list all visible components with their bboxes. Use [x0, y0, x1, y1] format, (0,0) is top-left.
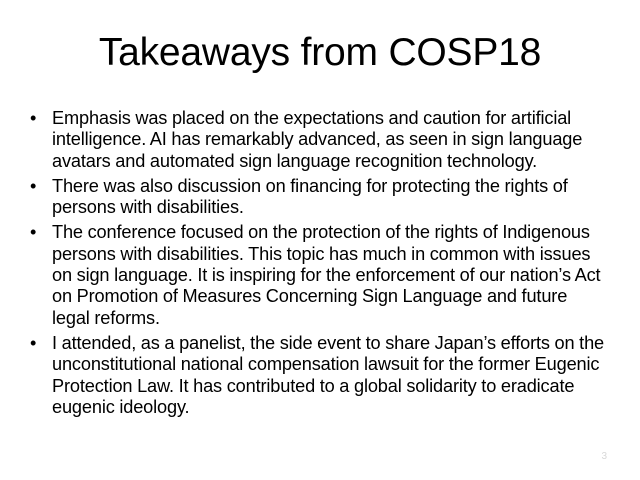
bullet-point-icon: • [30, 108, 44, 129]
presentation-slide: Takeaways from COSP18 • Emphasis was pla… [0, 0, 640, 480]
bullet-item-text: The conference focused on the protection… [52, 222, 608, 328]
bullet-item: • I attended, as a panelist, the side ev… [24, 333, 608, 418]
bullet-item-text: Emphasis was placed on the expectations … [52, 108, 608, 172]
bullet-item-text: I attended, as a panelist, the side even… [52, 333, 608, 418]
slide-body: • Emphasis was placed on the expectation… [24, 108, 608, 418]
bullet-point-icon: • [30, 222, 44, 243]
bullet-item-text: There was also discussion on financing f… [52, 176, 608, 219]
bullet-item: • The conference focused on the protecti… [24, 222, 608, 328]
slide-title: Takeaways from COSP18 [0, 30, 640, 76]
bullet-item: • Emphasis was placed on the expectation… [24, 108, 608, 172]
bullet-point-icon: • [30, 333, 44, 354]
bullet-point-icon: • [30, 176, 44, 197]
bullet-list: • Emphasis was placed on the expectation… [24, 108, 608, 418]
bullet-item: • There was also discussion on financing… [24, 176, 608, 219]
page-number: 3 [601, 451, 607, 463]
